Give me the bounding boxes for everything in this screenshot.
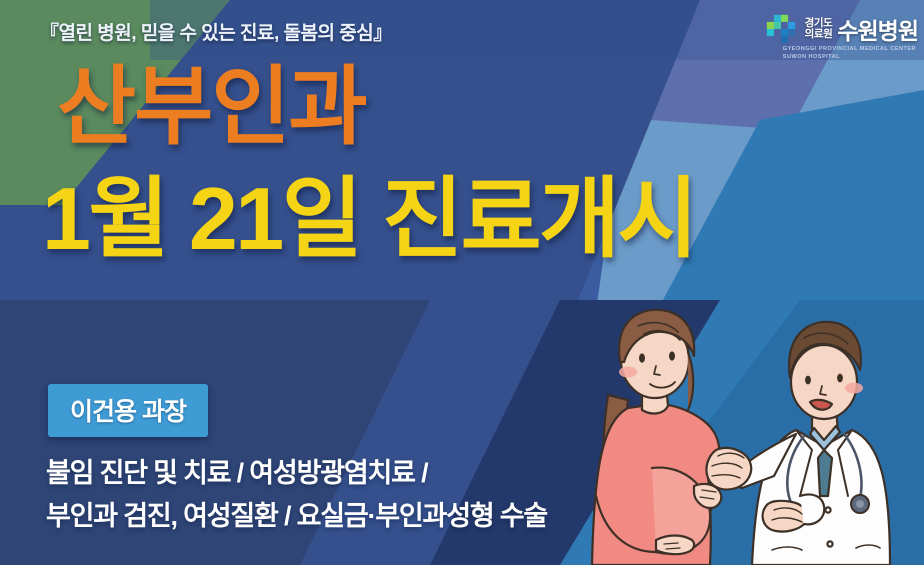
pregnant-woman-figure	[592, 310, 721, 565]
doctor-name-label: 이건용 과장	[70, 398, 186, 426]
logo-english-name: GYEONGGI PROVINCIAL MEDICAL CENTER SUWON…	[783, 46, 916, 61]
service-list: 불임 진단 및 치료 / 여성방광염치료 / 부인과 검진, 여성질환 / 요실…	[46, 452, 547, 537]
doctor-figure	[706, 322, 890, 565]
pinwheel-logo-icon	[764, 12, 798, 46]
logo-org-name: 경기도 의료원	[805, 18, 833, 40]
logo-text-group: 경기도 의료원 수원병원	[805, 12, 918, 46]
logo-org-line2: 의료원	[805, 29, 833, 40]
service-line: 불임 진단 및 치료 / 여성방광염치료 /	[46, 452, 547, 495]
doctor-patient-illustration	[560, 300, 924, 565]
hospital-promo-banner: 『열린 병원, 믿을 수 있는 진료, 돌봄의 중심』 경기도 의료원 수원	[0, 0, 924, 565]
logo-english-line2: SUWON HOSPITAL	[783, 54, 916, 62]
banner-tagline: 『열린 병원, 믿을 수 있는 진료, 돌봄의 중심』	[40, 18, 392, 45]
logo-hospital-name: 수원병원	[837, 12, 918, 46]
headline-opening-date: 1월 21일 진료개시	[42, 175, 696, 263]
headline-department: 산부인과	[57, 64, 365, 150]
service-line: 부인과 검진, 여성질환 / 요실금·부인과성형 수술	[46, 495, 547, 538]
hospital-logo: 경기도 의료원 수원병원 GYEONGGI PROVINCIAL MEDICAL…	[764, 12, 918, 46]
logo-english-line1: GYEONGGI PROVINCIAL MEDICAL CENTER	[783, 46, 916, 54]
doctor-name-badge: 이건용 과장	[48, 384, 208, 437]
